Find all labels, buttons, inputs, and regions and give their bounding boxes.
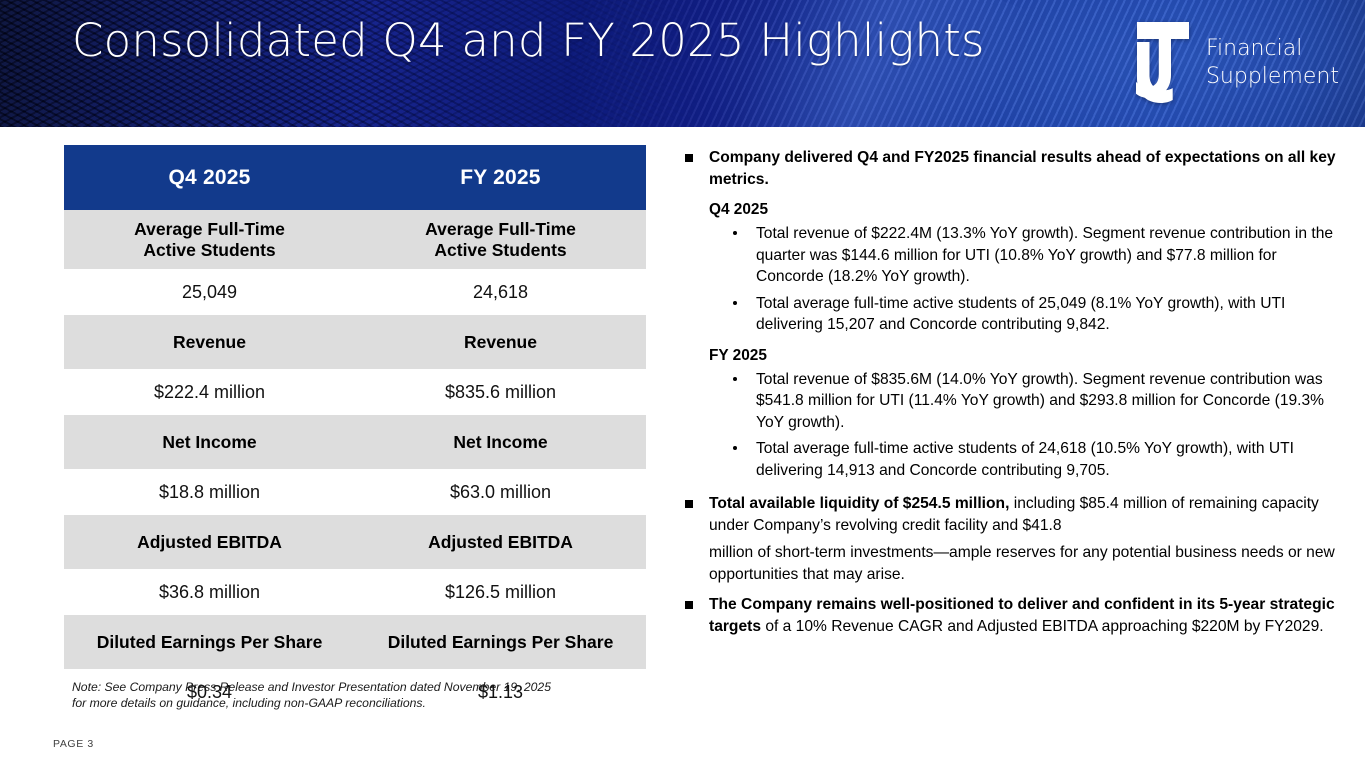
table-row: 25,049 24,618 [64,269,646,315]
metric-label-net-income-q4: Net Income [64,415,355,469]
highlight-bullet-text: million of short-term investments—ample … [709,544,1335,583]
highlight-bullet-bold: Total available liquidity of $254.5 mill… [709,495,1009,512]
metric-value-net-income-fy: $63.0 million [355,469,646,515]
table-row: Net Income Net Income [64,415,646,469]
brand-text: Financial Supplement [1206,35,1339,91]
table-header-q4: Q4 2025 [64,145,355,210]
dot-bullet-icon [733,377,737,381]
table-row: $18.8 million $63.0 million [64,469,646,515]
label-line-1: Average Full-Time [361,219,640,240]
metric-label-deps-fy: Diluted Earnings Per Share [355,615,646,669]
highlight-subbullet: Total average full-time active students … [683,438,1348,481]
metric-value-revenue-q4: $222.4 million [64,369,355,415]
page-number: PAGE 3 [53,738,94,750]
metric-value-students-q4: 25,049 [64,269,355,315]
metric-value-net-income-q4: $18.8 million [64,469,355,515]
label-line-2: Active Students [361,240,640,261]
metric-value-students-fy: 24,618 [355,269,646,315]
metric-value-revenue-fy: $835.6 million [355,369,646,415]
metric-label-revenue-q4: Revenue [64,315,355,369]
highlight-bullet-text: Company delivered Q4 and FY2025 financia… [709,149,1336,188]
square-bullet-icon [685,500,693,508]
table-row: Average Full-Time Active Students Averag… [64,210,646,269]
highlight-subbullet-text: Total average full-time active students … [756,295,1285,334]
brand-line-1: Financial [1206,35,1339,63]
highlight-subbullet: Total average full-time active students … [683,293,1348,336]
header-banner: Consolidated Q4 and FY 2025 Highlights F… [0,0,1365,127]
page-title: Consolidated Q4 and FY 2025 Highlights [72,14,985,67]
table-note-line-2: for more details on guidance, including … [72,695,650,711]
highlight-bullet-primary: Company delivered Q4 and FY2025 financia… [683,147,1348,190]
metric-label-deps-q4: Diluted Earnings Per Share [64,615,355,669]
table-note: Note: See Company Press Release and Inve… [72,679,650,711]
highlights-panel: Company delivered Q4 and FY2025 financia… [683,147,1348,639]
label-line-2: Active Students [70,240,349,261]
highlight-bullet-regular: of a 10% Revenue CAGR and Adjusted EBITD… [761,618,1324,635]
highlight-subheading-fy: FY 2025 [683,345,1348,366]
table-header-row: Q4 2025 FY 2025 [64,145,646,210]
highlight-bullet-strategy: The Company remains well-positioned to d… [683,594,1348,637]
metric-label-revenue-fy: Revenue [355,315,646,369]
table-header-fy: FY 2025 [355,145,646,210]
metric-label-students-q4: Average Full-Time Active Students [64,210,355,269]
square-bullet-icon [685,154,693,162]
label-line-1: Average Full-Time [70,219,349,240]
square-bullet-icon [685,601,693,609]
table-row: Revenue Revenue [64,315,646,369]
highlight-bullet-liquidity-cont: million of short-term investments—ample … [683,542,1348,585]
highlight-subbullet-text: Total revenue of $222.4M (13.3% YoY grow… [756,225,1333,285]
highlight-subbullet-text: Total revenue of $835.6M (14.0% YoY grow… [756,371,1324,431]
metric-label-adj-ebitda-fy: Adjusted EBITDA [355,515,646,569]
highlight-bullet-liquidity: Total available liquidity of $254.5 mill… [683,493,1348,536]
uti-shield-logo-icon [1134,20,1192,106]
highlight-subbullet: Total revenue of $835.6M (14.0% YoY grow… [683,369,1348,434]
dot-bullet-icon [733,301,737,305]
table-row: $36.8 million $126.5 million [64,569,646,615]
highlight-subheading-q4: Q4 2025 [683,199,1348,220]
metric-value-adj-ebitda-q4: $36.8 million [64,569,355,615]
brand-line-2: Supplement [1206,63,1339,91]
spacer [683,587,1348,594]
metrics-table: Q4 2025 FY 2025 Average Full-Time Active… [64,145,646,715]
dot-bullet-icon [733,446,737,450]
metric-value-adj-ebitda-fy: $126.5 million [355,569,646,615]
spacer [683,486,1348,493]
metric-label-net-income-fy: Net Income [355,415,646,469]
table-note-line-1: Note: See Company Press Release and Inve… [72,679,650,695]
table-row: $222.4 million $835.6 million [64,369,646,415]
metric-label-adj-ebitda-q4: Adjusted EBITDA [64,515,355,569]
table-row: Diluted Earnings Per Share Diluted Earni… [64,615,646,669]
table-row: Adjusted EBITDA Adjusted EBITDA [64,515,646,569]
dot-bullet-icon [733,231,737,235]
brand-lockup: Financial Supplement [1134,20,1339,106]
metric-label-students-fy: Average Full-Time Active Students [355,210,646,269]
highlight-subbullet-text: Total average full-time active students … [756,440,1294,479]
highlight-subbullet: Total revenue of $222.4M (13.3% YoY grow… [683,223,1348,288]
